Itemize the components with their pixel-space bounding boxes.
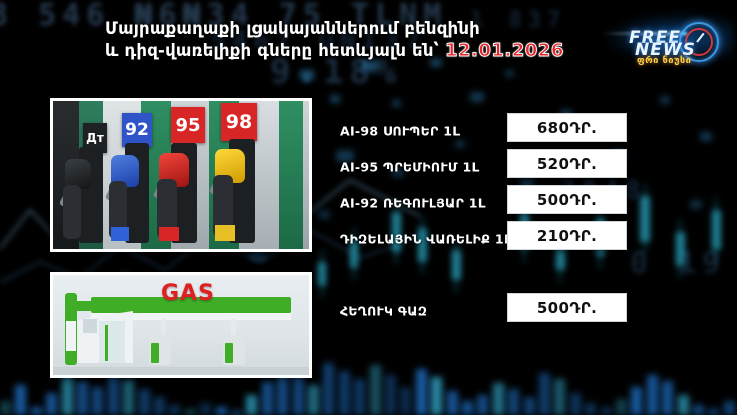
broadcast-graphic: 3 546 ₦6₦34 75 TLNM 5467 UNI37 9.18% 1 8… [0, 0, 737, 415]
price-box: 210ԴՐ. [507, 221, 627, 250]
price-value: 500ԴՐ. [537, 299, 597, 317]
price-label: AI-98 ՍՈՒՊԵՐ 1L [340, 124, 461, 139]
price-value: 500ԴՐ. [537, 191, 597, 209]
price-value: 520ԴՐ. [537, 155, 597, 173]
headline-line-2: և դիզ-վառելիքի գները հետևյալն են՝ [105, 41, 439, 60]
nozzle-sign-92: 92 [122, 113, 152, 147]
headline-date: 12.01.2026 [445, 40, 564, 61]
price-label: AI-95 ՊՐԵՄԻՈՒՄ 1L [340, 160, 480, 175]
price-box: 500ԴՐ. [507, 185, 627, 214]
price-box: 500ԴՐ. [507, 293, 627, 322]
price-list: AI-98 ՍՈՒՊԵՐ 1L 680ԴՐ. AI-95 ՊՐԵՄԻՈՒՄ 1L… [340, 113, 630, 329]
price-value: 680ԴՐ. [537, 119, 597, 137]
logo-subtitle: ფრი ნიუსი [637, 56, 691, 66]
price-box: 680ԴՐ. [507, 113, 627, 142]
price-label: ԴԻԶԵԼԱՅԻՆ ՎԱՌԵԼԻՔ 1L [340, 232, 512, 247]
price-value: 210ԴՐ. [537, 227, 597, 245]
nozzle-sign-98: 98 [221, 103, 257, 141]
gas-station-photo: GAS [50, 272, 312, 378]
channel-logo[interactable]: FREE NEWS ფრი ნიუსი [607, 8, 729, 68]
price-row: ՀԵՂՈՒԿ ԳԱԶ 500ԴՐ. [340, 293, 630, 329]
nozzle-sign-95: 95 [171, 107, 205, 143]
page-title: Մայրաքաղաքի լցակայաններում բենզինի և դիզ… [105, 18, 575, 62]
price-row: AI-95 ՊՐԵՄԻՈՒՄ 1L 520ԴՐ. [340, 149, 630, 185]
price-row: ԴԻԶԵԼԱՅԻՆ ՎԱՌԵԼԻՔ 1L 210ԴՐ. [340, 221, 630, 257]
fuel-nozzles-photo: Дт 92 95 98 [50, 98, 312, 252]
price-row: AI-98 ՍՈՒՊԵՐ 1L 680ԴՐ. [340, 113, 630, 149]
price-row: AI-92 ՌԵԳՈՒԼՅԱՐ 1L 500ԴՐ. [340, 185, 630, 221]
price-box: 520ԴՐ. [507, 149, 627, 178]
background-ticker-text: 0 19 [630, 246, 737, 281]
headline-line-1: Մայրաքաղաքի լցակայաններում բենզինի [105, 19, 480, 38]
price-label: AI-92 ՌԵԳՈՒԼՅԱՐ 1L [340, 196, 486, 211]
station-gas-sign: GAS [161, 281, 215, 306]
price-label: ՀԵՂՈՒԿ ԳԱԶ [340, 304, 427, 319]
